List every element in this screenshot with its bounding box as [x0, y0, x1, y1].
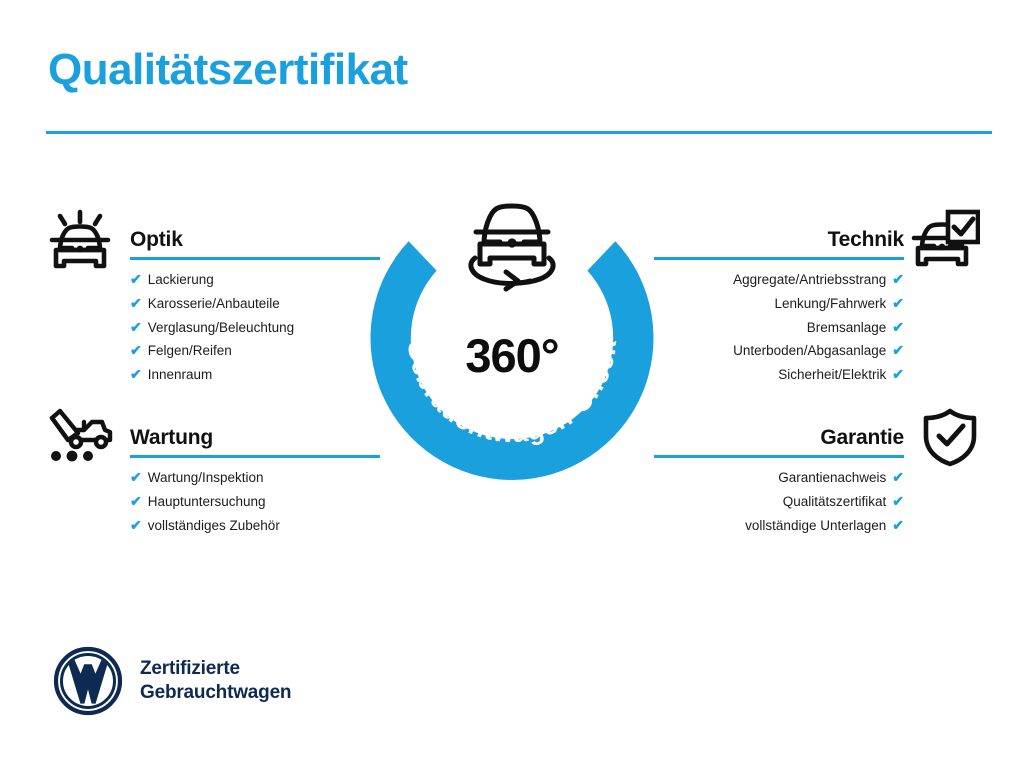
- list-item-label: vollständiges Zubehör: [148, 518, 280, 533]
- section-technik-title: Technik: [828, 228, 904, 252]
- list-item: ✔Lackierung: [130, 268, 382, 292]
- list-item: ✔Karosserie/Anbauteile: [130, 292, 382, 316]
- footer-logo-text: Zertifizierte Gebrauchtwagen: [140, 657, 291, 706]
- list-item: vollständige Unterlagen✔: [642, 514, 904, 538]
- list-item-label: Unterboden/Abgasanlage: [733, 343, 886, 358]
- list-item-label: Sicherheit/Elektrik: [778, 367, 886, 382]
- check-icon: ✔: [130, 493, 142, 509]
- list-item: Lenkung/Fahrwerk✔: [642, 292, 904, 316]
- check-icon: ✔: [130, 342, 142, 358]
- list-item: ✔Hauptuntersuchung: [130, 490, 382, 514]
- list-item: Unterboden/Abgasanlage✔: [642, 339, 904, 363]
- car-rotation-360-icon: [462, 198, 562, 294]
- list-item: Qualitätszertifikat✔: [642, 490, 904, 514]
- section-optik: Optik ✔Lackierung ✔Karosserie/Anbauteile…: [42, 206, 382, 387]
- title-divider: [46, 131, 992, 134]
- badge-value: 360°: [370, 328, 654, 383]
- page-title: Qualitätszertifikat: [48, 46, 408, 94]
- service-dot: [83, 451, 93, 461]
- vw-logo: [52, 645, 124, 717]
- list-item: ✔Wartung/Inspektion: [130, 466, 382, 490]
- section-wartung-divider: [130, 455, 380, 458]
- shield-check-icon: [920, 406, 980, 468]
- list-item: ✔Innenraum: [130, 363, 382, 387]
- car-emblem-dot: [507, 238, 516, 247]
- check-icon: ✔: [130, 469, 142, 485]
- check-icon: ✔: [130, 366, 142, 382]
- list-item: ✔Felgen/Reifen: [130, 339, 382, 363]
- list-item-label: Garantienachweis: [778, 470, 886, 485]
- list-item-label: Verglasung/Beleuchtung: [148, 320, 294, 335]
- section-technik: Technik Aggregate/Antriebsstrang✔ Lenkun…: [642, 206, 982, 387]
- check-icon: ✔: [892, 295, 904, 311]
- check-icon: ✔: [892, 493, 904, 509]
- car-emblem-dot: [939, 244, 946, 251]
- check-icon: ✔: [892, 319, 904, 335]
- list-item: Garantienachweis✔: [642, 466, 904, 490]
- car-checkbox-icon: [908, 208, 980, 274]
- section-garantie: Garantie Garantienachweis✔ Qualitätszert…: [642, 404, 982, 537]
- section-wartung: Wartung ✔Wartung/Inspektion ✔Hauptunters…: [42, 404, 382, 537]
- check-icon: ✔: [892, 366, 904, 382]
- section-optik-header: Optik: [42, 206, 382, 268]
- list-item-label: Qualitätszertifikat: [783, 494, 887, 509]
- list-item-label: Wartung/Inspektion: [148, 470, 264, 485]
- section-optik-title: Optik: [130, 228, 183, 252]
- section-technik-divider: [654, 257, 904, 260]
- list-item-label: vollständige Unterlagen: [745, 518, 886, 533]
- check-icon: ✔: [130, 517, 142, 533]
- list-item-label: Innenraum: [148, 367, 213, 382]
- check-icon: ✔: [130, 271, 142, 287]
- section-garantie-list: Garantienachweis✔ Qualitätszertifikat✔ v…: [642, 466, 904, 537]
- list-item: ✔Verglasung/Beleuchtung: [130, 316, 382, 340]
- list-item-label: Bremsanlage: [807, 320, 887, 335]
- list-item: ✔vollständiges Zubehör: [130, 514, 382, 538]
- footer-logo-lockup: Zertifizierte Gebrauchtwagen: [52, 645, 291, 717]
- list-item: Bremsanlage✔: [642, 316, 904, 340]
- list-item-label: Lackierung: [148, 272, 214, 287]
- list-item-label: Felgen/Reifen: [148, 343, 232, 358]
- section-wartung-list: ✔Wartung/Inspektion ✔Hauptuntersuchung ✔…: [130, 466, 382, 537]
- check-icon: ✔: [892, 517, 904, 533]
- list-item-label: Karosserie/Anbauteile: [148, 296, 280, 311]
- service-dot: [67, 451, 78, 462]
- section-optik-divider: [130, 257, 380, 260]
- section-technik-list: Aggregate/Antriebsstrang✔ Lenkung/Fahrwe…: [642, 268, 904, 387]
- check-icon: ✔: [130, 319, 142, 335]
- section-garantie-divider: [654, 455, 904, 458]
- list-item-label: Hauptuntersuchung: [148, 494, 266, 509]
- section-garantie-header: Garantie: [642, 404, 982, 466]
- 360-check-badge: Gebrauchtwagen-Check 360°: [370, 196, 654, 480]
- section-wartung-header: Wartung: [42, 404, 382, 466]
- list-item: Aggregate/Antriebsstrang✔: [642, 268, 904, 292]
- section-optik-list: ✔Lackierung ✔Karosserie/Anbauteile ✔Verg…: [130, 268, 382, 387]
- pencil-car-service-icon: [44, 406, 116, 468]
- check-icon: ✔: [130, 295, 142, 311]
- check-icon: ✔: [892, 271, 904, 287]
- section-technik-header: Technik: [642, 206, 982, 268]
- list-item-label: Lenkung/Fahrwerk: [774, 296, 886, 311]
- list-item: Sicherheit/Elektrik✔: [642, 363, 904, 387]
- section-wartung-title: Wartung: [130, 426, 213, 450]
- check-icon: ✔: [892, 469, 904, 485]
- check-icon: ✔: [892, 342, 904, 358]
- list-item-label: Aggregate/Antriebsstrang: [733, 272, 886, 287]
- car-emblem-dot: [77, 246, 84, 253]
- service-dot: [51, 451, 61, 461]
- vw-logo-mark: [69, 660, 108, 704]
- shiny-car-front-icon: [44, 208, 116, 274]
- section-garantie-title: Garantie: [820, 426, 904, 450]
